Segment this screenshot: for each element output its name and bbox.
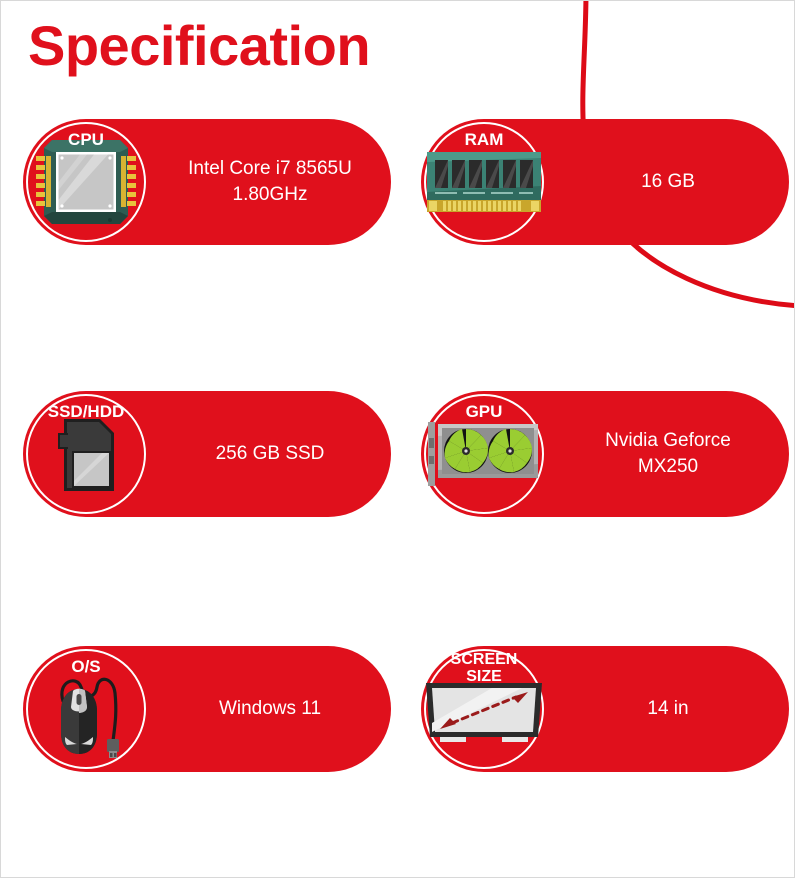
spec-card-screen-size[interactable]: SCREEN SIZE 14 in	[421, 646, 789, 772]
spec-value-ram: 16 GB	[547, 119, 789, 245]
spec-label-cpu: CPU	[23, 131, 149, 149]
page-title: Specification	[28, 15, 370, 77]
spec-label-ram: RAM	[421, 131, 547, 149]
spec-value-gpu: Nvidia Geforce MX250	[547, 391, 789, 517]
spec-card-os[interactable]: O/S Windows 11	[23, 646, 391, 772]
spec-label-screen-size: SCREEN SIZE	[421, 652, 547, 686]
spec-card-ram[interactable]: RAM 16 GB	[421, 119, 789, 245]
spec-card-cpu[interactable]: CPU Intel Core i7 8565U 1.80GHz	[23, 119, 391, 245]
spec-card-gpu[interactable]: GPU Nvidia Geforce MX250	[421, 391, 789, 517]
spec-value-storage: 256 GB SSD	[149, 391, 391, 517]
spec-label-gpu: GPU	[421, 403, 547, 421]
spec-value-os: Windows 11	[149, 646, 391, 772]
spec-card-storage[interactable]: SSD/HDD 256 GB SSD	[23, 391, 391, 517]
spec-value-cpu: Intel Core i7 8565U 1.80GHz	[149, 119, 391, 245]
spec-label-os: O/S	[23, 658, 149, 676]
spec-label-storage: SSD/HDD	[23, 403, 149, 421]
specification-page: Specification	[0, 0, 795, 878]
spec-value-screen-size: 14 in	[547, 646, 789, 772]
